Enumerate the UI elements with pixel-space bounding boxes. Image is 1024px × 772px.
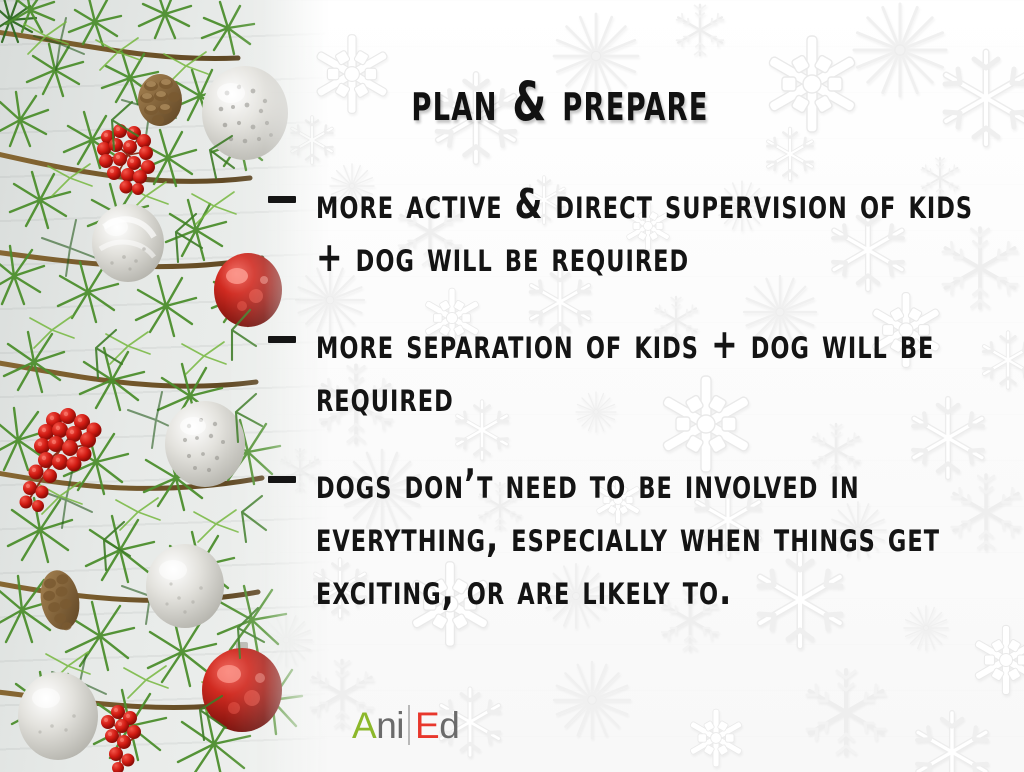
bullet-list: More active & direct supervision of kids… bbox=[262, 178, 992, 651]
silver-ornament bbox=[18, 672, 98, 760]
bullet-dash-icon bbox=[268, 196, 296, 203]
aniedu-logo: A ni E d bbox=[352, 705, 459, 745]
list-item-text: Dogs don’t need to be involved in everyt… bbox=[316, 458, 990, 617]
logo-separator-bar bbox=[408, 705, 410, 745]
slide-canvas: Plan & Prepare More active & direct supe… bbox=[0, 0, 1024, 772]
logo-letter-a: A bbox=[352, 707, 376, 744]
berry-cluster bbox=[97, 124, 155, 195]
logo-letters-ni: ni bbox=[376, 707, 404, 744]
pinecone bbox=[138, 74, 182, 126]
silver-ornament bbox=[92, 204, 164, 282]
page-title: Plan & Prepare bbox=[352, 72, 768, 132]
list-item: More separation of kids + dog will be re… bbox=[262, 318, 992, 424]
list-item-text: More separation of kids + dog will be re… bbox=[316, 318, 990, 424]
list-item-text: More active & direct supervision of kids… bbox=[316, 178, 990, 284]
list-item: More active & direct supervision of kids… bbox=[262, 178, 992, 284]
berry-cluster bbox=[101, 705, 141, 772]
list-item: Dogs don’t need to be involved in everyt… bbox=[262, 458, 992, 617]
bullet-dash-icon bbox=[268, 336, 296, 343]
logo-letter-e: E bbox=[415, 707, 439, 744]
bullet-dash-icon bbox=[268, 476, 296, 483]
logo-letter-d: d bbox=[439, 707, 459, 744]
silver-ornament bbox=[146, 544, 224, 628]
silver-ornament bbox=[165, 401, 245, 487]
